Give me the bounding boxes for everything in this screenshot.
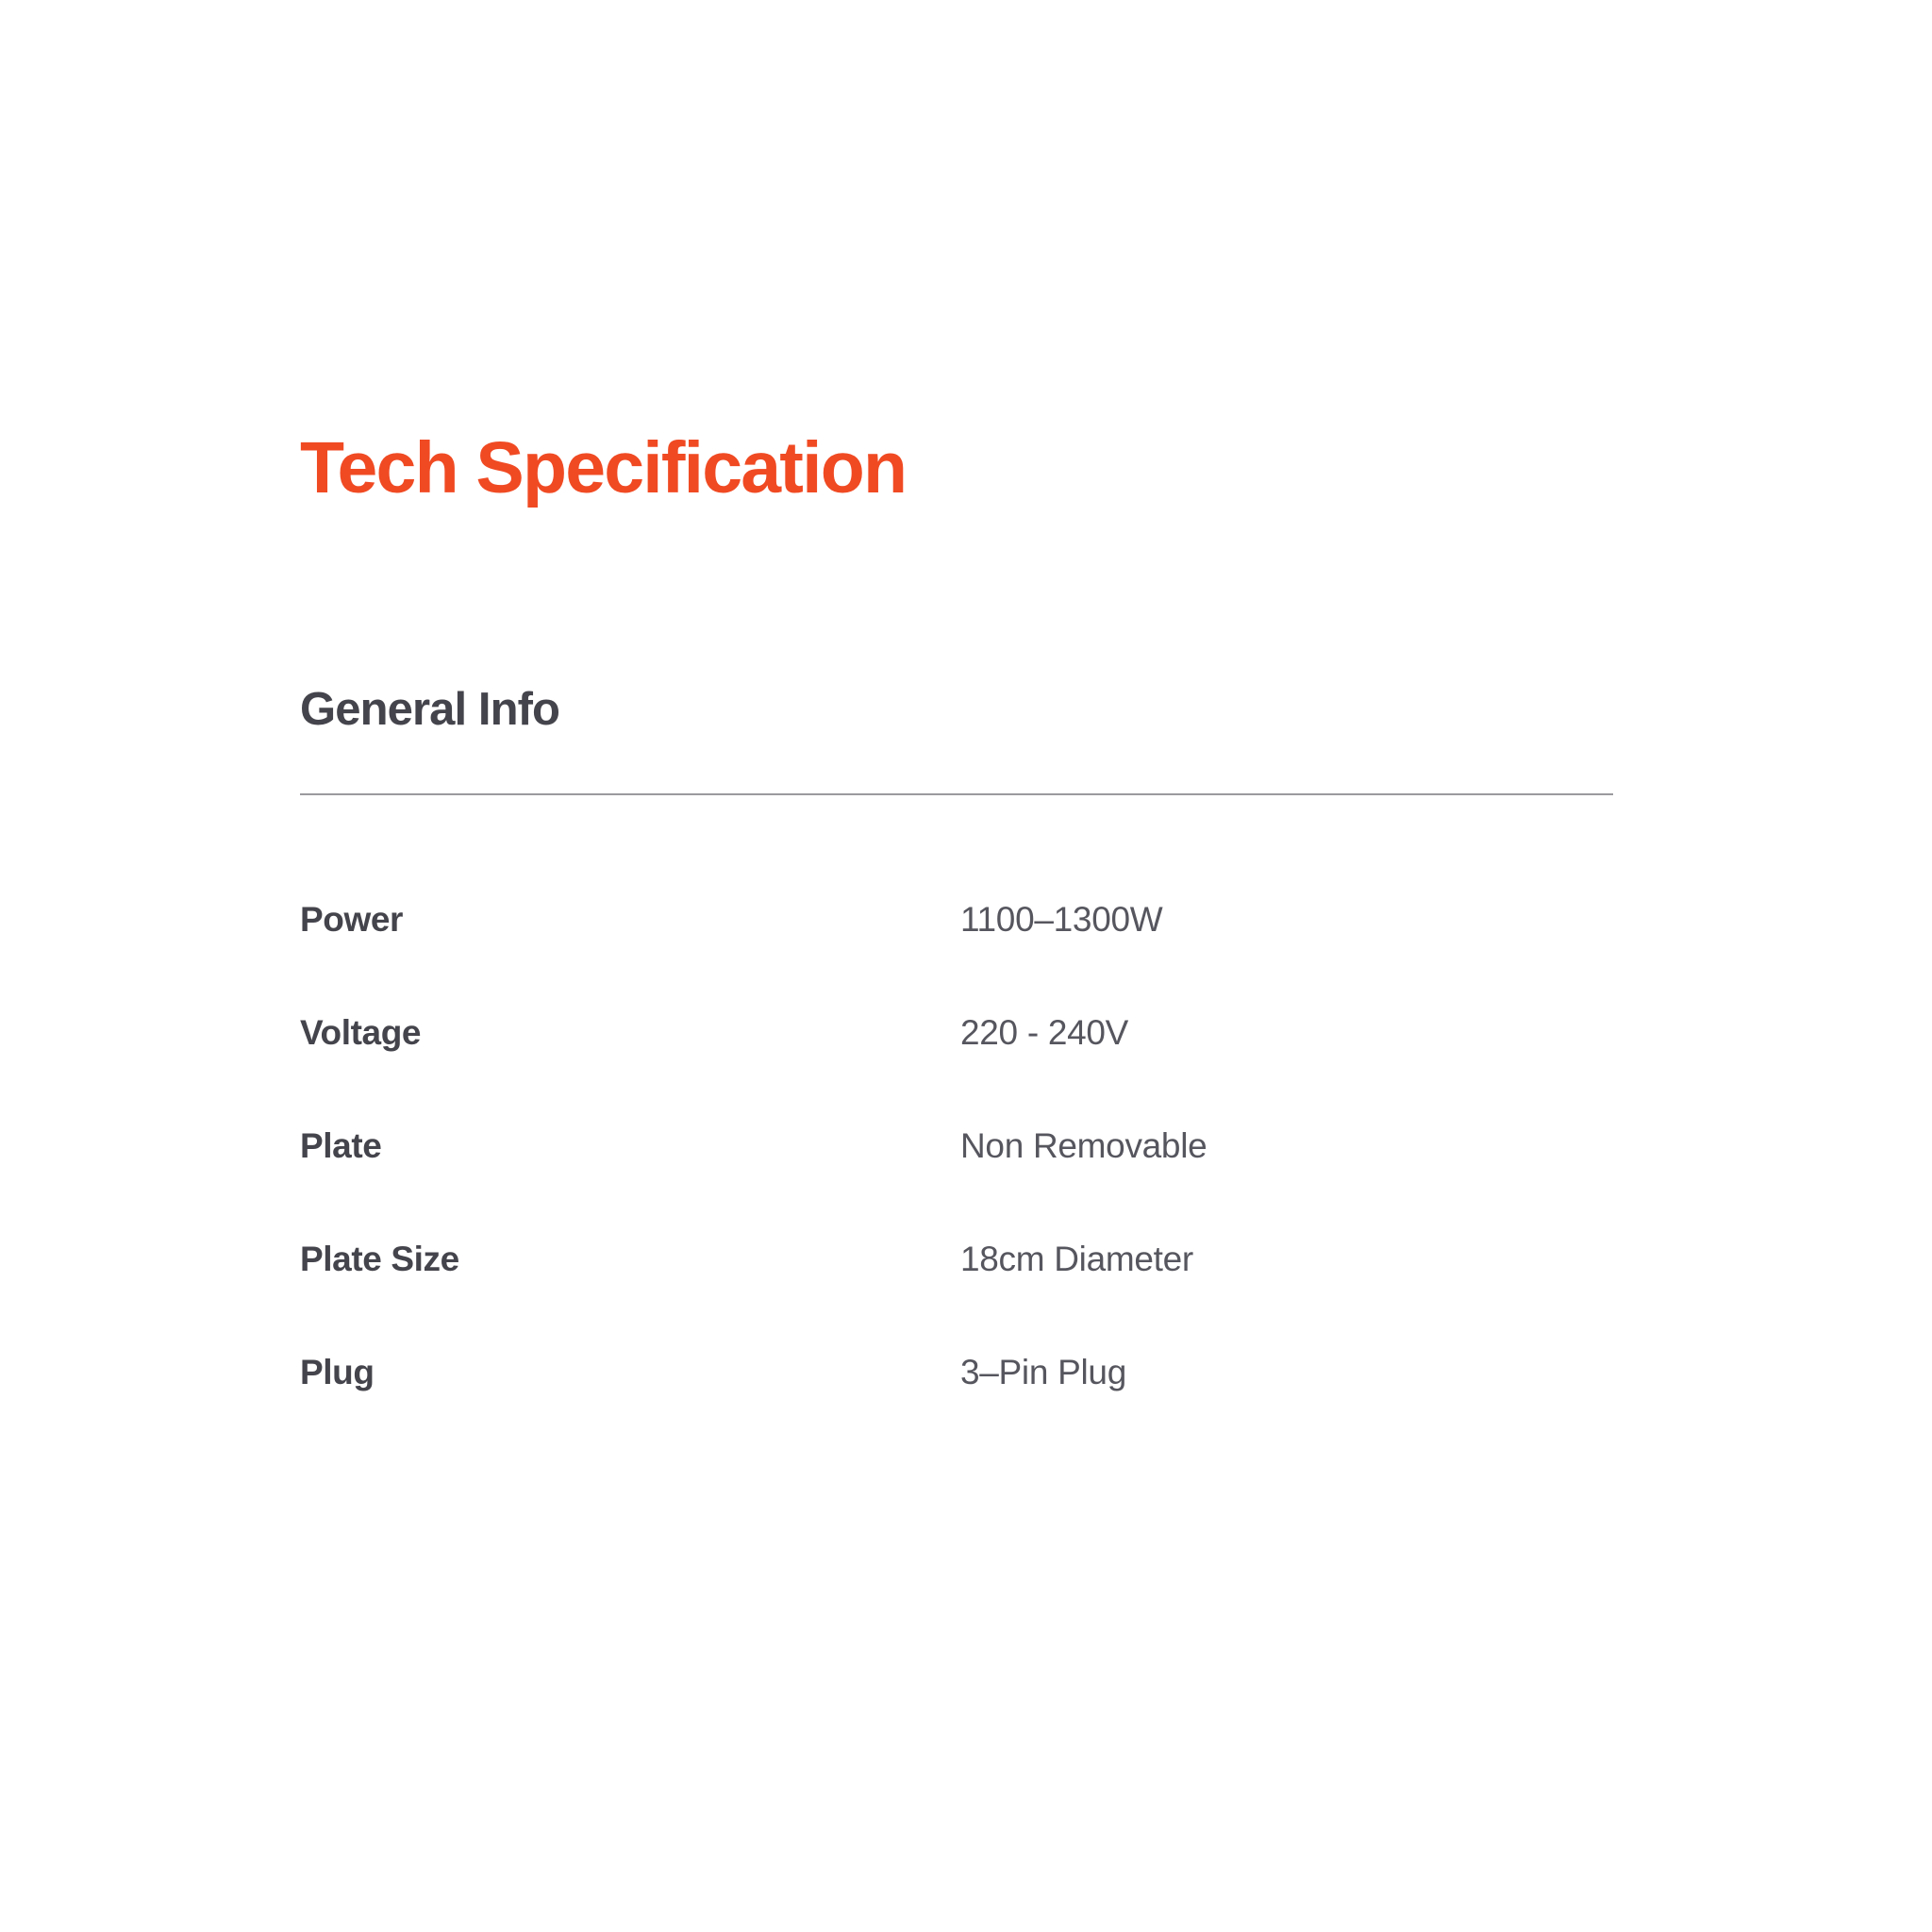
spec-label-voltage: Voltage [300, 1013, 960, 1126]
table-row: Plate Non Removable [300, 1126, 1613, 1240]
page-title: Tech Specification [300, 432, 1621, 505]
spec-label-plate-size: Plate Size [300, 1240, 960, 1353]
spec-value-plug: 3–Pin Plug [960, 1353, 1613, 1466]
tech-specification-page: Tech Specification General Info Power 11… [0, 0, 1932, 1932]
spec-value-power: 1100–1300W [960, 900, 1613, 1013]
table-row: Plug 3–Pin Plug [300, 1353, 1613, 1466]
table-row: Plate Size 18cm Diameter [300, 1240, 1613, 1353]
spec-label-plug: Plug [300, 1353, 960, 1466]
table-row: Power 1100–1300W [300, 900, 1613, 1013]
spec-value-plate-size: 18cm Diameter [960, 1240, 1613, 1353]
spec-label-power: Power [300, 900, 960, 1013]
table-row: Voltage 220 - 240V [300, 1013, 1613, 1126]
spec-table: Power 1100–1300W Voltage 220 - 240V Plat… [300, 900, 1613, 1466]
spec-label-plate: Plate [300, 1126, 960, 1240]
spec-value-voltage: 220 - 240V [960, 1013, 1613, 1126]
section-divider [300, 793, 1613, 795]
spec-content: Tech Specification General Info Power 11… [300, 432, 1621, 505]
spec-value-plate: Non Removable [960, 1126, 1613, 1240]
section-heading-general-info: General Info [300, 687, 559, 733]
